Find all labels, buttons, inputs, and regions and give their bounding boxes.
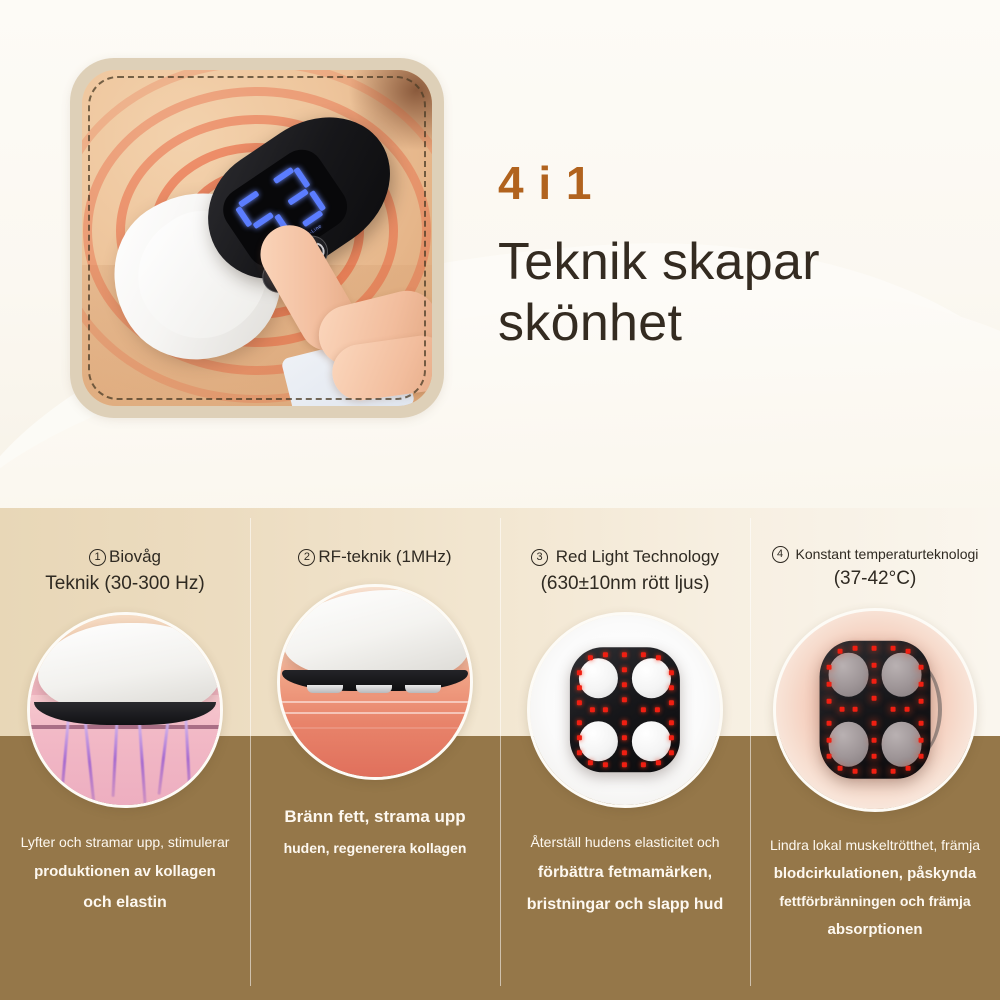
feature-columns: 1Biovåg Teknik (30-300 Hz) Lyfter och st… [0, 508, 1000, 1000]
caption-line: Lindra lokal muskeltrötthet, främja [770, 832, 980, 859]
badge-number-2: 2 [298, 549, 315, 566]
feature-column-1: 1Biovåg Teknik (30-300 Hz) Lyfter och st… [0, 508, 250, 1000]
device-head-plate-heated [820, 640, 931, 779]
feature-title-2-line1: RF-teknik (1MHz) [318, 547, 451, 566]
caption-line: förbättra fetmamärken, [527, 857, 723, 890]
feature-title-4-line2: (37-42°C) [772, 565, 979, 594]
hero-image: 0-LineR-LineC-Line [82, 70, 432, 406]
hero-product-card: 0-LineR-LineC-Line [70, 58, 444, 418]
badge-number-4: 4 [772, 546, 789, 563]
device-head-plate [570, 647, 680, 772]
red-light-head-thumbnail [527, 612, 723, 808]
feature-column-4: 4 Konstant temperaturteknologi (37-42°C) [750, 508, 1000, 1000]
headline-line-2: skönhet [498, 293, 958, 354]
feature-caption-2: Bränn fett, strama upp huden, regenerera… [272, 800, 479, 864]
feature-title-3: 3 Red Light Technology (630±10nm rött lj… [523, 544, 727, 598]
hand-holding-device [262, 202, 432, 406]
caption-line: Lyfter och stramar upp, stimulerar [21, 828, 230, 857]
product-infographic: 0-LineR-LineC-Line 4 i 1 Teknik skapar s… [0, 0, 1000, 1000]
feature-caption-3: Återställ hudens elasticitet och förbätt… [515, 828, 735, 922]
badge-number-1: 1 [89, 549, 106, 566]
caption-line: och elastin [21, 887, 230, 920]
feature-title-1-line1: Biovåg [109, 547, 161, 566]
feature-title-4: 4 Konstant temperaturteknologi (37-42°C) [764, 544, 987, 594]
constant-temperature-head-thumbnail [773, 608, 977, 812]
feature-title-1: 1Biovåg Teknik (30-300 Hz) [37, 544, 212, 598]
feature-title-4-line1: Konstant temperaturteknologi [796, 546, 979, 562]
rf-heat-skin-thumbnail [277, 584, 473, 780]
feature-title-1-line2: Teknik (30-300 Hz) [45, 570, 204, 599]
headline-block: 4 i 1 Teknik skapar skönhet [498, 160, 958, 355]
caption-line: Bränn fett, strama upp [284, 800, 467, 835]
headline-line-1: Teknik skapar [498, 232, 958, 293]
caption-line: absorptionen [770, 915, 980, 944]
caption-line: fettförbränningen och främja [770, 888, 980, 915]
feature-caption-1: Lyfter och stramar upp, stimulerar produ… [9, 828, 242, 920]
caption-line: huden, regenerera kollagen [284, 834, 467, 863]
feature-title-2: 2RF-teknik (1MHz) [290, 544, 459, 570]
caption-line: bristningar och slapp hud [527, 889, 723, 922]
biowave-skin-thumbnail [27, 612, 223, 808]
feature-title-3-line2: (630±10nm rött ljus) [531, 570, 719, 599]
feature-title-3-line1: Red Light Technology [556, 547, 719, 566]
feature-column-3: 3 Red Light Technology (630±10nm rött lj… [500, 508, 750, 1000]
feature-column-2: 2RF-teknik (1MHz) Bränn fett, strama upp… [250, 508, 500, 1000]
caption-line: Återställ hudens elasticitet och [527, 828, 723, 857]
caption-line: blodcirkulationen, påskynda [770, 859, 980, 888]
feature-caption-4: Lindra lokal muskeltrötthet, främja blod… [758, 832, 992, 945]
caption-line: produktionen av kollagen [21, 857, 230, 888]
badge-number-3: 3 [531, 549, 548, 566]
eyebrow-4-in-1: 4 i 1 [498, 160, 958, 206]
